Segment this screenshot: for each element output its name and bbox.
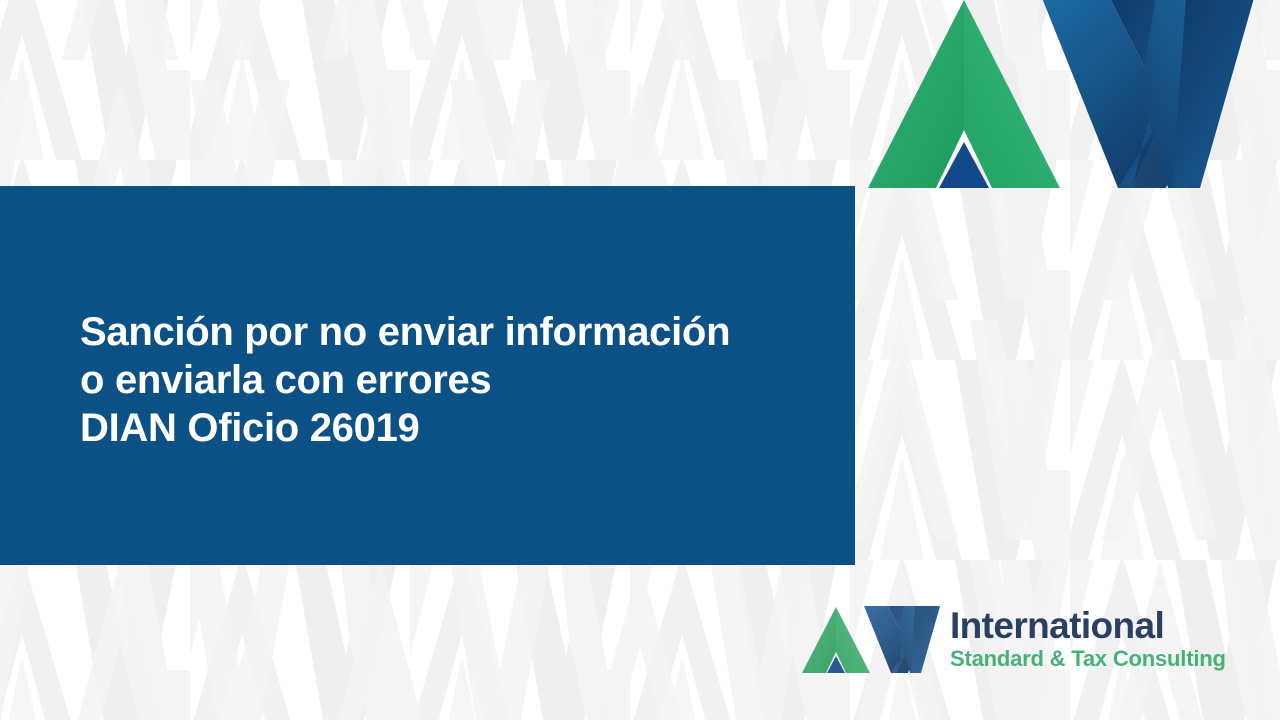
- brand-text-block: International Standard & Tax Consulting: [950, 607, 1226, 672]
- title-line-1: Sanción por no enviar información: [80, 308, 820, 356]
- brand-tagline: Standard & Tax Consulting: [950, 646, 1226, 672]
- brand-name: International: [950, 607, 1226, 645]
- slide-title: Sanción por no enviar información o envi…: [80, 308, 820, 452]
- aw-logo-mark-top: [856, 0, 1256, 192]
- title-panel: Sanción por no enviar información o envi…: [0, 186, 855, 565]
- title-line-2: o enviarla con errores: [80, 356, 820, 404]
- title-line-3: DIAN Oficio 26019: [80, 404, 820, 452]
- slide-canvas: Sanción por no enviar información o envi…: [0, 0, 1280, 720]
- brand-lockup-footer: International Standard & Tax Consulting: [798, 600, 1250, 678]
- aw-logo-mark-footer: [798, 603, 944, 675]
